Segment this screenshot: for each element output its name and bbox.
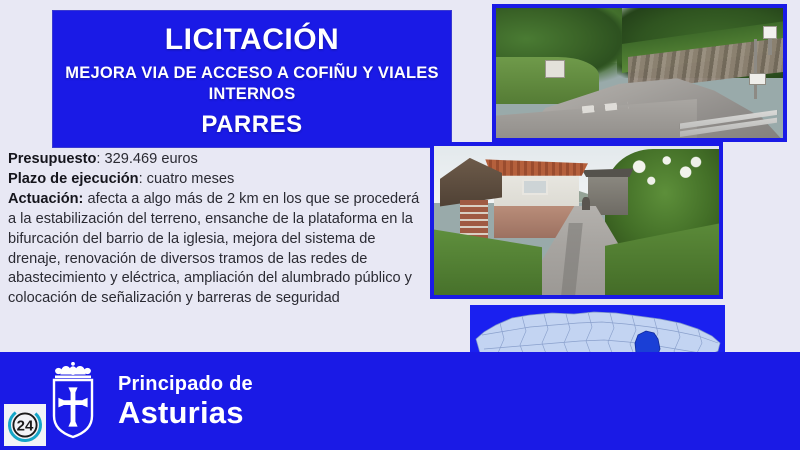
term-value: : cuatro meses bbox=[139, 171, 235, 187]
sign-post bbox=[754, 39, 757, 99]
left-grass bbox=[434, 229, 542, 295]
institution-name: Principado de Asturias bbox=[118, 374, 253, 428]
org-line-2: Asturias bbox=[118, 397, 253, 428]
escudo-principado-asturias-icon bbox=[44, 362, 102, 440]
org-line-1: Principado de bbox=[118, 374, 253, 394]
crown-icon bbox=[55, 362, 91, 378]
poster-canvas: LICITACIÓN MEJORA VIA DE ACCESO A COFIÑU… bbox=[0, 0, 800, 450]
white-marker bbox=[763, 26, 777, 39]
watermark-label: 24 bbox=[17, 417, 34, 434]
municipality-name: PARRES bbox=[201, 111, 302, 139]
channel-24-watermark: 24 bbox=[4, 404, 46, 446]
hedge-flowers bbox=[622, 155, 708, 194]
roadside-sign bbox=[545, 60, 565, 78]
project-details: Presupuesto: 329.469 euros Plazo de ejec… bbox=[8, 150, 428, 309]
victory-cross-icon bbox=[58, 387, 87, 426]
rural-road-scene bbox=[496, 8, 783, 138]
distant-figure bbox=[582, 197, 589, 210]
title-banner: LICITACIÓN MEJORA VIA DE ACCESO A COFIÑU… bbox=[52, 10, 452, 148]
institution-banner: Principado de Asturias bbox=[0, 352, 800, 450]
house-window bbox=[522, 179, 548, 195]
term-label: Plazo de ejecución bbox=[8, 171, 139, 187]
small-sign bbox=[749, 73, 766, 85]
budget-value: : 329.469 euros bbox=[96, 151, 197, 167]
term-line: Plazo de ejecución: cuatro meses bbox=[8, 170, 428, 190]
project-subtitle: MEJORA VIA DE ACCESO A COFIÑU Y VIALES I… bbox=[53, 63, 451, 104]
action-value: afecta a algo más de 2 km en los que se … bbox=[8, 191, 419, 307]
budget-line: Presupuesto: 329.469 euros bbox=[8, 150, 428, 170]
village-lane-photo bbox=[430, 142, 723, 299]
budget-label: Presupuesto bbox=[8, 151, 96, 167]
page-title: LICITACIÓN bbox=[165, 24, 339, 55]
action-label: Actuación: bbox=[8, 191, 83, 207]
village-lane-scene bbox=[434, 146, 719, 295]
rural-road-photo bbox=[492, 4, 787, 142]
action-line: Actuación: afecta a algo más de 2 km en … bbox=[8, 190, 428, 309]
